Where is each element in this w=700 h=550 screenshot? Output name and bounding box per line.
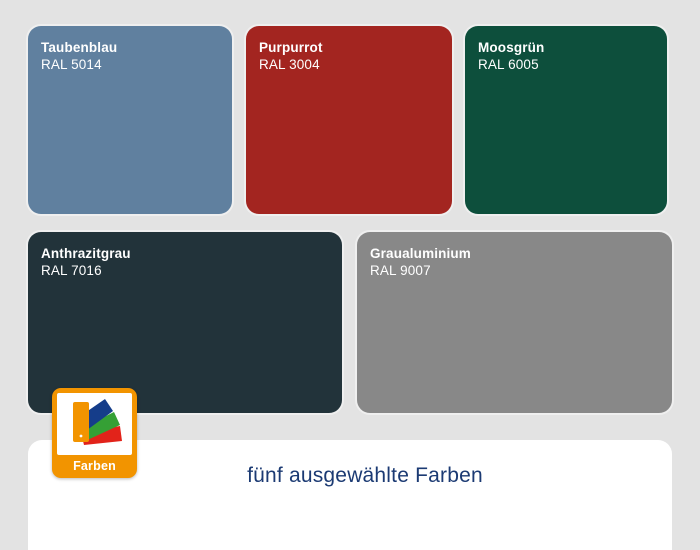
- color-swatch-purpurrot[interactable]: Purpurrot RAL 3004: [246, 26, 452, 214]
- swatch-ral-code: RAL 9007: [370, 262, 672, 279]
- swatch-ral-code: RAL 5014: [41, 56, 232, 73]
- swatch-name: Graualuminium: [370, 245, 672, 262]
- swatch-ral-code: RAL 3004: [259, 56, 452, 73]
- swatch-name: Moosgrün: [478, 39, 667, 56]
- farben-logo-badge[interactable]: Farben: [52, 388, 137, 478]
- color-palette-board: Taubenblau RAL 5014 Purpurrot RAL 3004 M…: [0, 0, 700, 525]
- color-fan-icon: [57, 393, 132, 455]
- swatch-name: Anthrazitgrau: [41, 245, 342, 262]
- color-swatch-taubenblau[interactable]: Taubenblau RAL 5014: [28, 26, 232, 214]
- swatch-ral-code: RAL 6005: [478, 56, 667, 73]
- color-swatch-graualuminium[interactable]: Graualuminium RAL 9007: [357, 232, 672, 413]
- swatch-ral-code: RAL 7016: [41, 262, 342, 279]
- swatch-name: Taubenblau: [41, 39, 232, 56]
- swatch-name: Purpurrot: [259, 39, 452, 56]
- farben-logo-label: Farben: [57, 455, 132, 477]
- color-swatch-anthrazitgrau[interactable]: Anthrazitgrau RAL 7016: [28, 232, 342, 413]
- color-swatch-moosgruen[interactable]: Moosgrün RAL 6005: [465, 26, 667, 214]
